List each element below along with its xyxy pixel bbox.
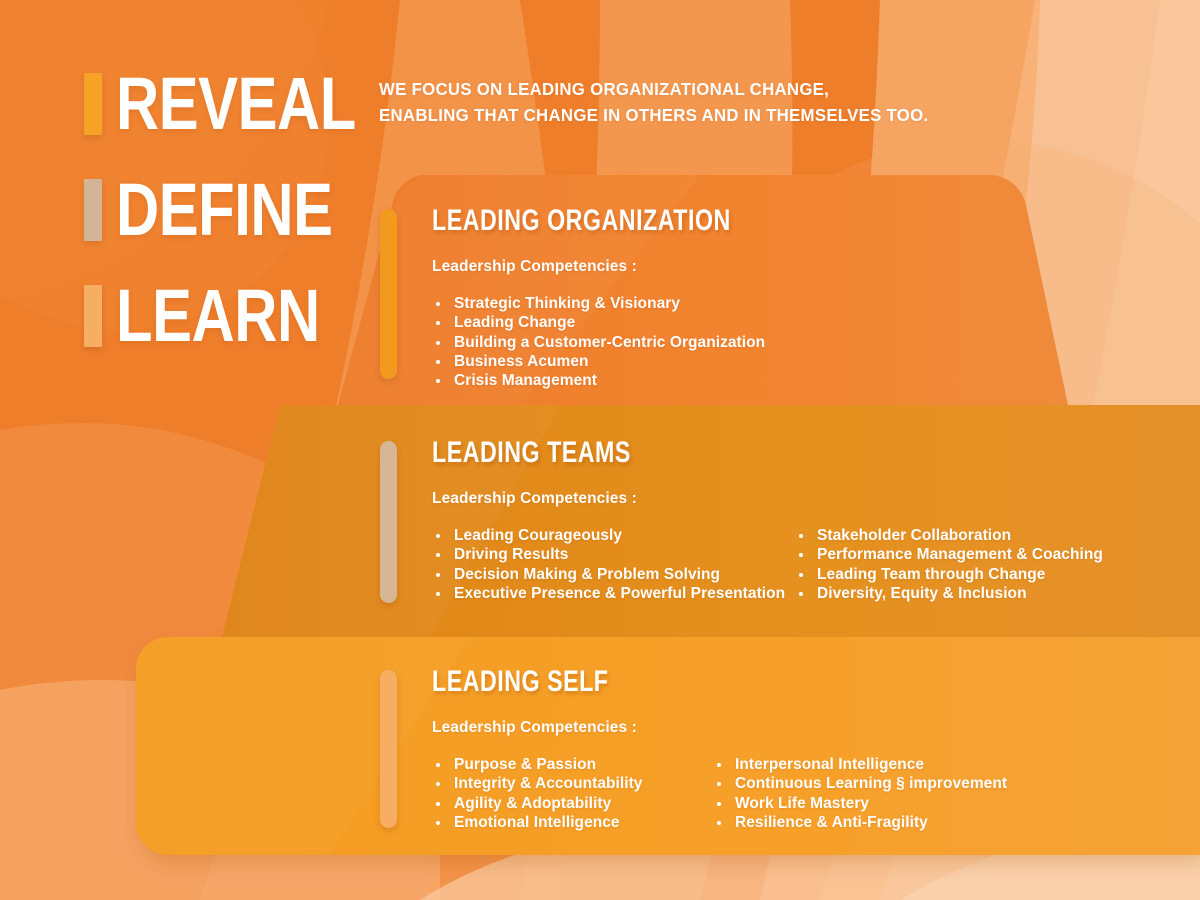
- tier-accent-bar-self: [380, 670, 397, 828]
- list-item: Business Acumen: [432, 352, 765, 371]
- sidebar-label-define: DEFINE: [116, 175, 333, 245]
- tier-title-teams: LEADING TEAMS: [432, 435, 1067, 469]
- list-item: Work Life Mastery: [713, 794, 1007, 813]
- competency-list-teams-col2: Stakeholder Collaboration Performance Ma…: [795, 526, 1103, 603]
- infographic-canvas: REVEAL DEFINE LEARN WE FOCUS ON LEADING …: [0, 0, 1200, 900]
- list-item: Resilience & Anti-Fragility: [713, 813, 1007, 832]
- list-item: Performance Management & Coaching: [795, 545, 1103, 564]
- competency-list-self-col2: Interpersonal Intelligence Continuous Le…: [713, 755, 1007, 832]
- tier-title-organization: LEADING ORGANIZATION: [432, 203, 1041, 237]
- sidebar-item-define[interactable]: DEFINE: [84, 172, 384, 248]
- list-item: Stakeholder Collaboration: [795, 526, 1103, 545]
- list-item: Leading Courageously: [432, 526, 795, 545]
- sidebar-label-learn: LEARN: [116, 281, 320, 351]
- tier-leading-teams[interactable]: LEADING TEAMS Leadership Competencies : …: [380, 437, 1170, 603]
- list-item: Leading Team through Change: [795, 565, 1103, 584]
- sidebar-item-reveal[interactable]: REVEAL: [84, 66, 384, 142]
- list-item: Continuous Learning § improvement: [713, 774, 1007, 793]
- list-item: Leading Change: [432, 313, 765, 332]
- list-item: Building a Customer-Centric Organization: [432, 333, 765, 352]
- tier-title-self: LEADING SELF: [432, 664, 1067, 698]
- list-item: Executive Presence & Powerful Presentati…: [432, 584, 795, 603]
- list-item: Driving Results: [432, 545, 795, 564]
- headline: WE FOCUS ON LEADING ORGANIZATIONAL CHANG…: [379, 77, 928, 129]
- list-item: Strategic Thinking & Visionary: [432, 294, 765, 313]
- sidebar-label-reveal: REVEAL: [116, 69, 356, 139]
- tier-accent-bar-teams: [380, 441, 397, 603]
- headline-line-1: WE FOCUS ON LEADING ORGANIZATIONAL CHANG…: [379, 77, 928, 103]
- sidebar-titles: REVEAL DEFINE LEARN: [84, 66, 384, 384]
- tier-leading-organization[interactable]: LEADING ORGANIZATION Leadership Competen…: [380, 205, 1140, 390]
- list-item: Diversity, Equity & Inclusion: [795, 584, 1103, 603]
- sidebar-bar-learn: [84, 285, 102, 347]
- sidebar-bar-reveal: [84, 73, 102, 135]
- sidebar-bar-define: [84, 179, 102, 241]
- list-item: Decision Making & Problem Solving: [432, 565, 795, 584]
- sidebar-item-learn[interactable]: LEARN: [84, 278, 384, 354]
- list-item: Agility & Adoptability: [432, 794, 713, 813]
- list-item: Crisis Management: [432, 371, 765, 390]
- list-item: Purpose & Passion: [432, 755, 713, 774]
- list-item: Emotional Intelligence: [432, 813, 713, 832]
- tier-subtitle-organization: Leadership Competencies :: [432, 258, 1140, 276]
- competency-list-teams-col1: Leading Courageously Driving Results Dec…: [432, 526, 795, 603]
- competency-list-organization-col1: Strategic Thinking & Visionary Leading C…: [432, 294, 765, 390]
- tier-subtitle-self: Leadership Competencies :: [432, 719, 1170, 737]
- list-item: Interpersonal Intelligence: [713, 755, 1007, 774]
- tier-accent-bar-organization: [380, 209, 397, 379]
- headline-line-2: ENABLING THAT CHANGE IN OTHERS AND IN TH…: [379, 103, 928, 129]
- tier-leading-self[interactable]: LEADING SELF Leadership Competencies : P…: [380, 666, 1170, 832]
- list-item: Integrity & Accountability: [432, 774, 713, 793]
- tier-subtitle-teams: Leadership Competencies :: [432, 490, 1170, 508]
- competency-list-self-col1: Purpose & Passion Integrity & Accountabi…: [432, 755, 713, 832]
